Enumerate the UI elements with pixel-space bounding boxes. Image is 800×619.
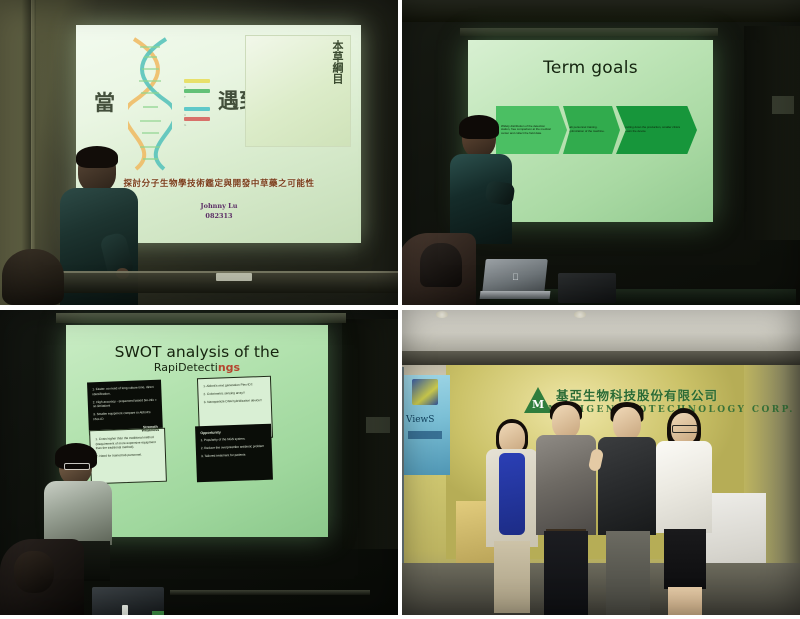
slide-title-line-2: RapiDetectings	[66, 361, 328, 374]
collage-gutter-horizontal	[0, 305, 800, 310]
front-ledge	[170, 590, 370, 595]
display-image	[412, 379, 438, 405]
display-bar	[408, 431, 442, 439]
downlight-icon	[436, 311, 448, 318]
wall-poster	[772, 96, 794, 114]
glasses-icon	[672, 425, 698, 433]
member-shirt	[598, 437, 656, 535]
lobby-ceiling	[398, 305, 800, 351]
chevron-step-3-text: By cutting down the production, smaller …	[621, 126, 681, 133]
product-name-accent: ngs	[218, 361, 240, 374]
panel-swot: SWOT analysis of the RapiDetectings 1. F…	[0, 305, 398, 619]
opportunity-item-2: 2. Reduce the overprestribe antibiotic p…	[201, 444, 267, 451]
member-legs	[668, 587, 702, 615]
threat-item-2: 2. Colorimetric sensing array!!	[203, 390, 265, 397]
laptop-base	[480, 291, 551, 299]
strength-item-2: 2. High accuracy - sequenced based bio-i…	[93, 397, 157, 409]
photo-collage: A T C G 當 遇到 本草綱目 探討分子生物學技術鑑定與開發中草藥之可能性 …	[0, 0, 800, 619]
chevron-process-diagram: Widely distribution of the detection sta…	[496, 106, 697, 154]
photo-title-slide: A T C G 當 遇到 本草綱目 探討分子生物學技術鑑定與開發中草藥之可能性 …	[0, 0, 398, 305]
dna-base-legend: A T C G	[184, 79, 210, 127]
side-wall	[744, 26, 800, 240]
photo-swot-slide: SWOT analysis of the RapiDetectings 1. F…	[0, 305, 398, 619]
book-title-text: 本草綱目	[331, 40, 344, 84]
company-name-cn: 基亞生物科技股份有限公司	[556, 385, 718, 404]
photo-group: ViewS M 基亞生物科技股份有限公司 MEDIGEN BIOTECHNOLO…	[398, 305, 800, 619]
presenter-hair	[459, 115, 499, 139]
swot-box-opportunity: Opportunity 1. Popularity of the NGS sys…	[195, 424, 273, 483]
panel-term-goals: Term goals Widely distribution of the de…	[398, 0, 800, 305]
side-wall	[342, 319, 398, 549]
apple-logo-icon: 	[512, 273, 520, 282]
threat-item-3: 3. Nanoparticle DNA hybridization device…	[204, 398, 266, 405]
display-screen-text: ViewS	[406, 415, 434, 425]
desk-plate	[216, 273, 252, 281]
member-head	[613, 407, 641, 440]
member-trousers	[494, 541, 530, 613]
product-name-base: RapiDetecti	[154, 361, 218, 374]
presenter-arm	[485, 180, 516, 206]
panel-group-photo: ViewS M 基亞生物科技股份有限公司 MEDIGEN BIOTECHNOLO…	[398, 305, 800, 619]
glasses-icon	[64, 463, 90, 470]
member-trousers	[544, 531, 588, 615]
photo-term-goals: Term goals Widely distribution of the de…	[398, 0, 800, 305]
audience-head	[2, 249, 64, 305]
weakness-heading: Weakness	[142, 428, 160, 433]
slide-title-term-goals: Term goals	[468, 58, 713, 78]
herbal-book-image: 本草綱目	[245, 35, 351, 147]
swot-box-strength: 1. Faster: no need of long culture time,…	[87, 380, 163, 436]
legend-swatch-g	[184, 117, 210, 121]
strength-item-3: 3. Smaller equipment compare to Abbott's…	[93, 410, 157, 422]
member-blouse	[656, 441, 712, 533]
member-shirt	[499, 453, 525, 535]
opportunity-item-1: 1. Popularity of the NGS system.	[200, 435, 266, 442]
presenter-hair	[76, 146, 118, 168]
presenter-figure	[450, 118, 512, 238]
audience-head	[14, 551, 54, 593]
team-member-3	[598, 407, 656, 613]
panel-title-slide: A T C G 當 遇到 本草綱目 探討分子生物學技術鑑定與開發中草藥之可能性 …	[0, 0, 398, 305]
member-shirt	[536, 435, 596, 535]
second-laptop	[558, 273, 616, 303]
wall-note	[366, 417, 390, 433]
screen-valance	[56, 313, 346, 323]
member-skirt	[664, 529, 706, 589]
presenter-body	[44, 481, 112, 545]
team-member-1	[486, 423, 538, 613]
lobby-display-screen: ViewS	[402, 375, 450, 475]
screen-valance	[460, 28, 718, 36]
front-desk	[26, 271, 398, 293]
macbook-laptop: 	[484, 259, 546, 301]
ceiling-band	[398, 0, 800, 22]
threat-item-1: 1. Abbott's next generation Plex-ID!!	[203, 382, 265, 389]
legend-label-g: G	[184, 123, 210, 127]
legend-swatch-c	[184, 107, 210, 111]
audience-head	[420, 243, 462, 287]
collage-bottom-edge	[0, 615, 800, 619]
chevron-step-2-text: Lab personnel training. Optimization of …	[568, 126, 608, 133]
member-trousers	[606, 531, 650, 615]
team-member-4	[656, 413, 712, 613]
ceiling-beam	[398, 351, 800, 365]
opportunity-item-3: 3. Tailored treatment for patients	[201, 452, 267, 459]
team-member-2	[536, 405, 596, 613]
strength-item-1: 1. Faster: no need of long culture time,…	[92, 385, 156, 397]
opportunity-heading: Opportunity	[200, 429, 266, 436]
downlight-icon	[574, 311, 586, 318]
legend-swatch-a	[184, 79, 210, 83]
slide-character-left: 當	[94, 87, 115, 117]
slide-title-line-1: SWOT analysis of the	[66, 343, 328, 361]
chevron-step-2: Lab personnel training. Optimization of …	[563, 106, 620, 154]
legend-swatch-t	[184, 89, 210, 93]
member-head	[552, 405, 580, 438]
chevron-step-3: By cutting down the production, smaller …	[616, 106, 697, 154]
